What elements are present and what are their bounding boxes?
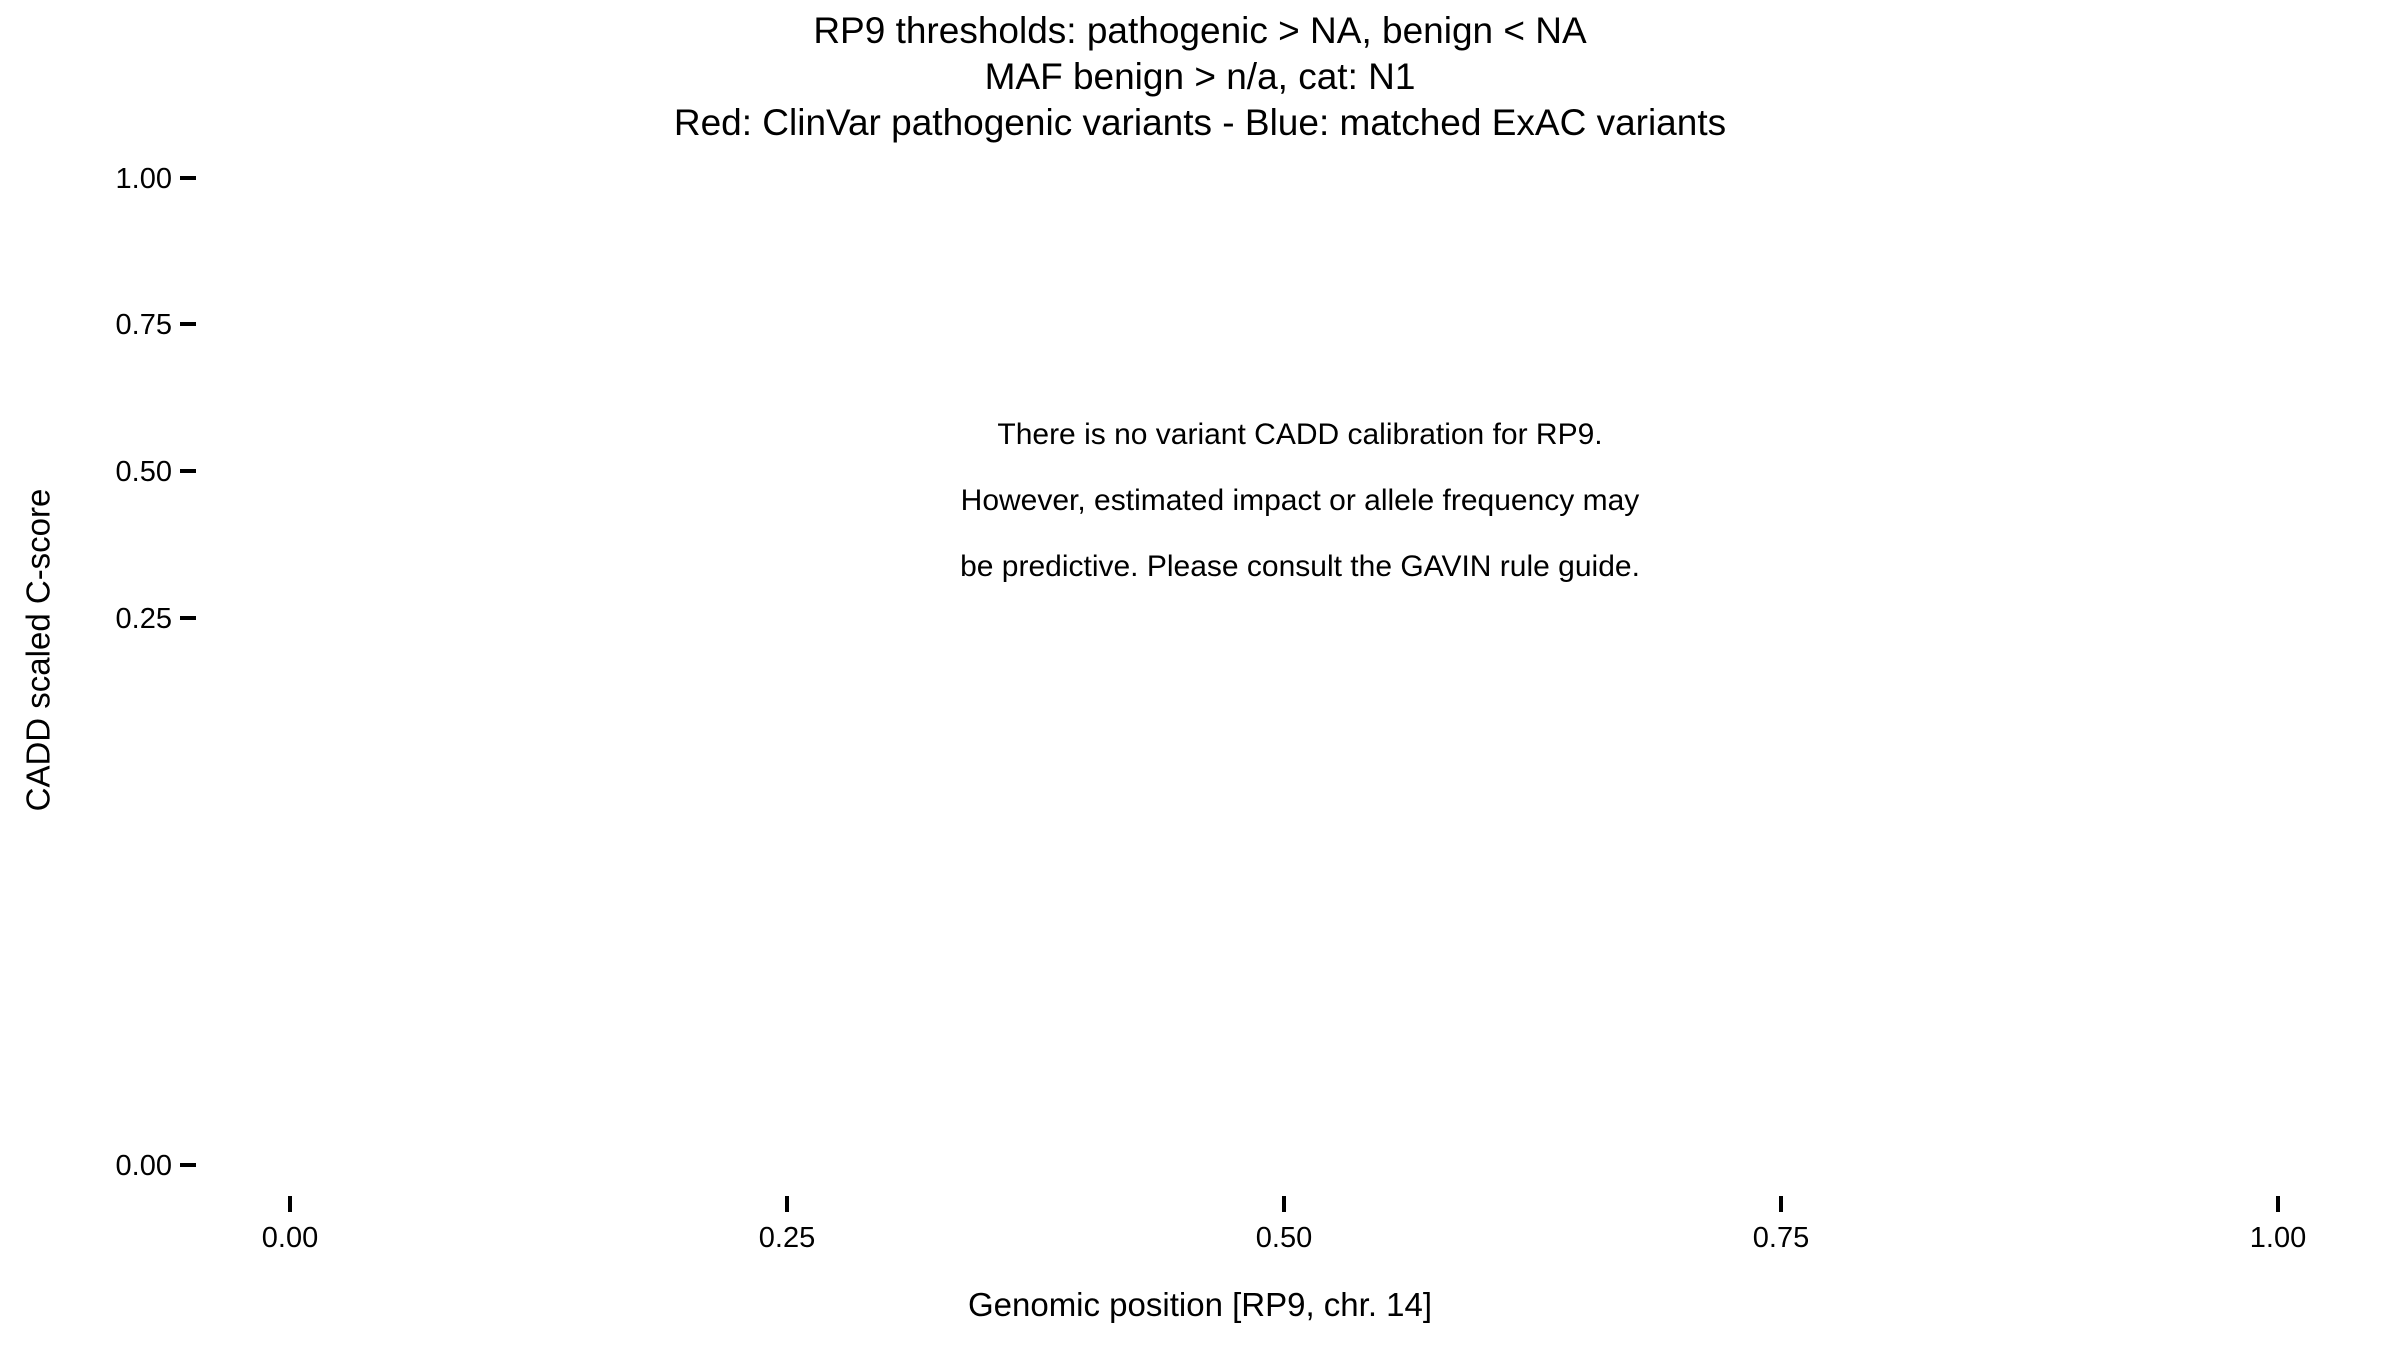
y-tick-label-3: 0.50 [60, 456, 172, 489]
y-tick-label-4: 0.25 [60, 603, 172, 636]
chart-title: RP9 thresholds: pathogenic > NA, benign … [0, 8, 2400, 146]
annotation-line-1: There is no variant CADD calibration for… [300, 402, 2300, 468]
y-tick-mark-3 [180, 469, 196, 473]
y-tick-mark-5 [180, 1163, 196, 1167]
x-axis-title: Genomic position [RP9, chr. 14] [0, 1286, 2400, 1324]
y-tick-label-1: 1.00 [60, 163, 172, 196]
x-tick-label-2: 0.25 [687, 1222, 887, 1255]
x-tick-label-1: 0.00 [190, 1222, 390, 1255]
x-tick-label-3: 0.50 [1184, 1222, 1384, 1255]
x-tick-mark-2 [785, 1196, 789, 1212]
chart-title-line-1: RP9 thresholds: pathogenic > NA, benign … [0, 8, 2400, 54]
y-tick-mark-1 [180, 176, 196, 180]
x-tick-label-4: 0.75 [1681, 1222, 1881, 1255]
y-tick-label-5: 0.00 [60, 1150, 172, 1183]
y-axis-title: CADD scaled C-score [14, 300, 62, 1000]
x-tick-mark-4 [1779, 1196, 1783, 1212]
x-tick-mark-1 [288, 1196, 292, 1212]
y-tick-mark-2 [180, 322, 196, 326]
chart-title-line-3: Red: ClinVar pathogenic variants - Blue:… [0, 100, 2400, 146]
y-tick-mark-4 [180, 616, 196, 620]
y-axis-title-label: CADD scaled C-score [19, 489, 57, 812]
x-tick-mark-3 [1282, 1196, 1286, 1212]
x-tick-mark-5 [2276, 1196, 2280, 1212]
plot-panel [290, 178, 2278, 1163]
annotation-line-3: be predictive. Please consult the GAVIN … [300, 534, 2300, 600]
chart-title-line-2: MAF benign > n/a, cat: N1 [0, 54, 2400, 100]
y-tick-label-2: 0.75 [60, 309, 172, 342]
x-tick-label-5: 1.00 [2178, 1222, 2378, 1255]
chart-canvas: RP9 thresholds: pathogenic > NA, benign … [0, 0, 2400, 1350]
annotation-line-2: However, estimated impact or allele freq… [300, 468, 2300, 534]
no-calibration-annotation: There is no variant CADD calibration for… [300, 402, 2300, 600]
